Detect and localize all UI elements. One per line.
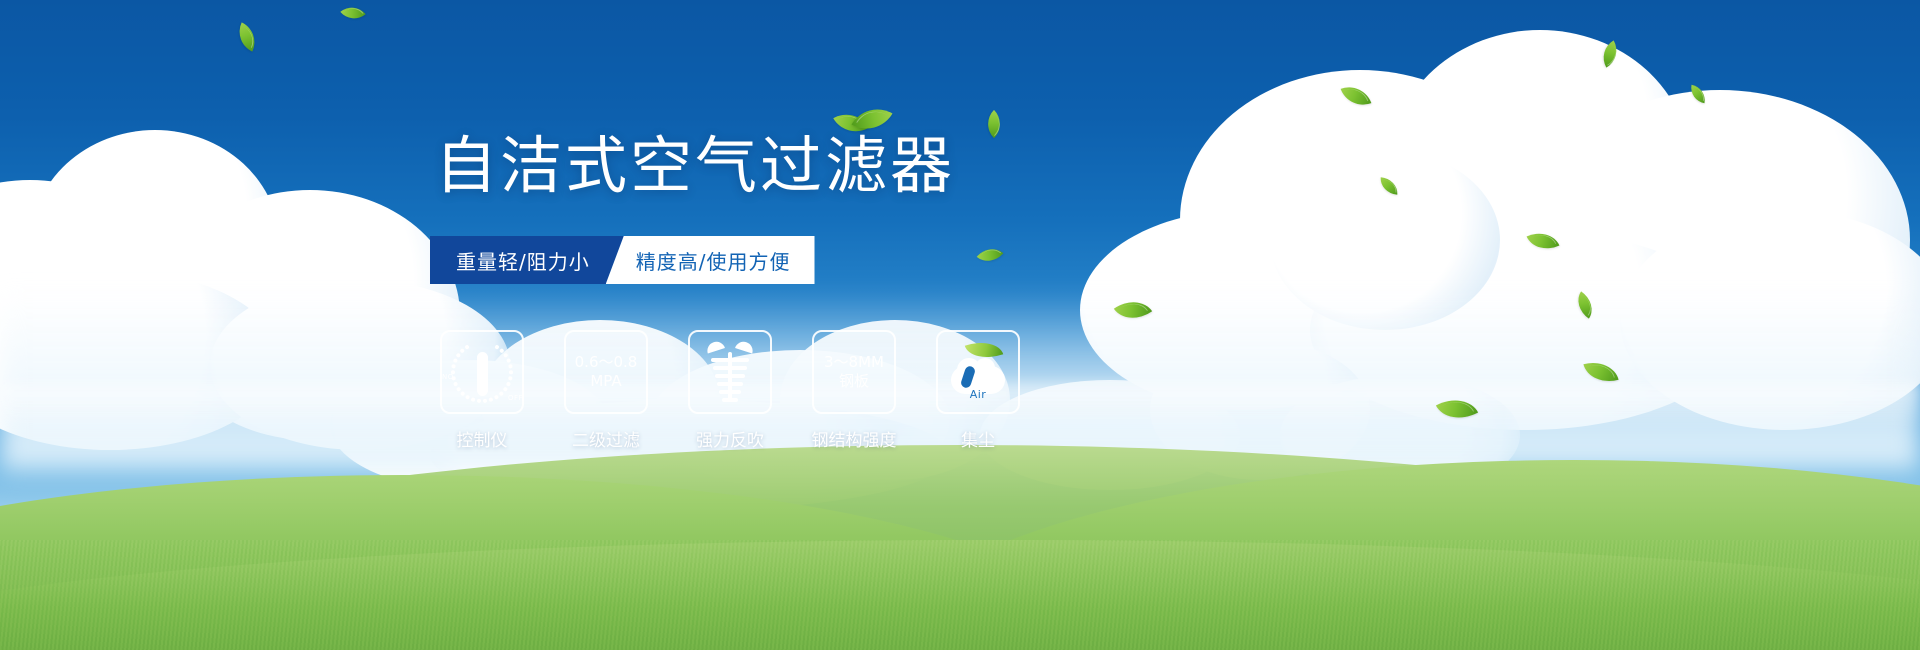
feature-box-controller: NO OFF — [440, 330, 524, 414]
feature-dust-collection[interactable]: Air 集尘 — [936, 330, 1020, 451]
cloud-puff-2 — [975, 358, 995, 378]
banner-content: 自洁式空气过滤器 重量轻/阻力小 精度高/使用方便 NO OFF 控制仪 — [0, 0, 1920, 650]
tag-lightweight-lowresistance[interactable]: 重量轻/阻力小 — [430, 236, 624, 284]
dial-knob-icon: NO OFF — [451, 341, 513, 403]
dial-dot — [453, 358, 458, 363]
tag-precision-convenience[interactable]: 精度高/使用方便 — [606, 236, 815, 284]
feature-label-reverse-blow: 强力反吹 — [696, 426, 764, 451]
steel-value-line1: 3～8MM — [824, 353, 884, 372]
cloud-air-icon: Air — [947, 344, 1009, 400]
hero-banner: 自洁式空气过滤器 重量轻/阻力小 精度高/使用方便 NO OFF 控制仪 — [0, 0, 1920, 650]
dial-dot — [453, 381, 458, 386]
feature-label-dust-collection: 集尘 — [961, 426, 995, 451]
dial-dot — [506, 381, 511, 386]
feature-steel-strength[interactable]: 3～8MM 钢板 钢结构强度 — [812, 330, 896, 451]
dial-pointer — [477, 352, 488, 396]
pressure-value-line1: 0.6～0.8 — [575, 353, 638, 372]
blow-wing-right — [735, 339, 755, 353]
dial-dot — [506, 358, 511, 363]
feature-label-secondary-filtration: 二级过滤 — [572, 426, 640, 451]
dial-label-no: NO — [442, 373, 454, 381]
pressure-value-line2: MPA — [590, 372, 621, 391]
dial-dot — [477, 399, 481, 403]
feature-box-reverse-blow — [688, 330, 772, 414]
dial-dot — [503, 353, 509, 359]
dial-dot — [451, 364, 456, 369]
dial-dot — [509, 370, 513, 374]
feature-box-steel-plate: 3～8MM 钢板 — [812, 330, 896, 414]
dial-dot — [508, 376, 513, 381]
dial-dot — [464, 344, 469, 349]
dial-dot — [483, 399, 487, 403]
banner-title: 自洁式空气过滤器 — [435, 135, 955, 197]
dial-dot — [503, 386, 509, 392]
feature-label-steel-strength: 钢结构强度 — [812, 426, 897, 451]
feature-box-dust-collection: Air — [936, 330, 1020, 414]
dial-dot — [471, 397, 476, 402]
feature-icon-row: NO OFF 控制仪 0.6～0.8 MPA 二级过滤 — [440, 330, 1020, 451]
feature-controller[interactable]: NO OFF 控制仪 — [440, 330, 524, 451]
dial-dot — [459, 348, 465, 354]
feature-reverse-blow[interactable]: 强力反吹 — [688, 330, 772, 451]
dial-dot — [465, 394, 470, 399]
dial-dot — [488, 397, 493, 402]
dial-dot — [498, 391, 504, 397]
feature-box-pressure: 0.6～0.8 MPA — [564, 330, 648, 414]
dial-dot — [508, 364, 513, 369]
cloud-air-label: Air — [947, 388, 1009, 401]
feature-tag-group: 重量轻/阻力小 精度高/使用方便 — [430, 236, 815, 284]
feature-label-controller: 控制仪 — [457, 426, 508, 451]
dial-dot — [494, 394, 499, 399]
feature-secondary-filtration[interactable]: 0.6～0.8 MPA 二级过滤 — [564, 330, 648, 451]
dial-dot — [456, 353, 462, 359]
reverse-blow-icon — [704, 342, 756, 402]
blow-wing-left — [705, 339, 725, 353]
steel-value-line2: 钢板 — [839, 372, 869, 391]
dial-label-off: OFF — [508, 394, 523, 402]
